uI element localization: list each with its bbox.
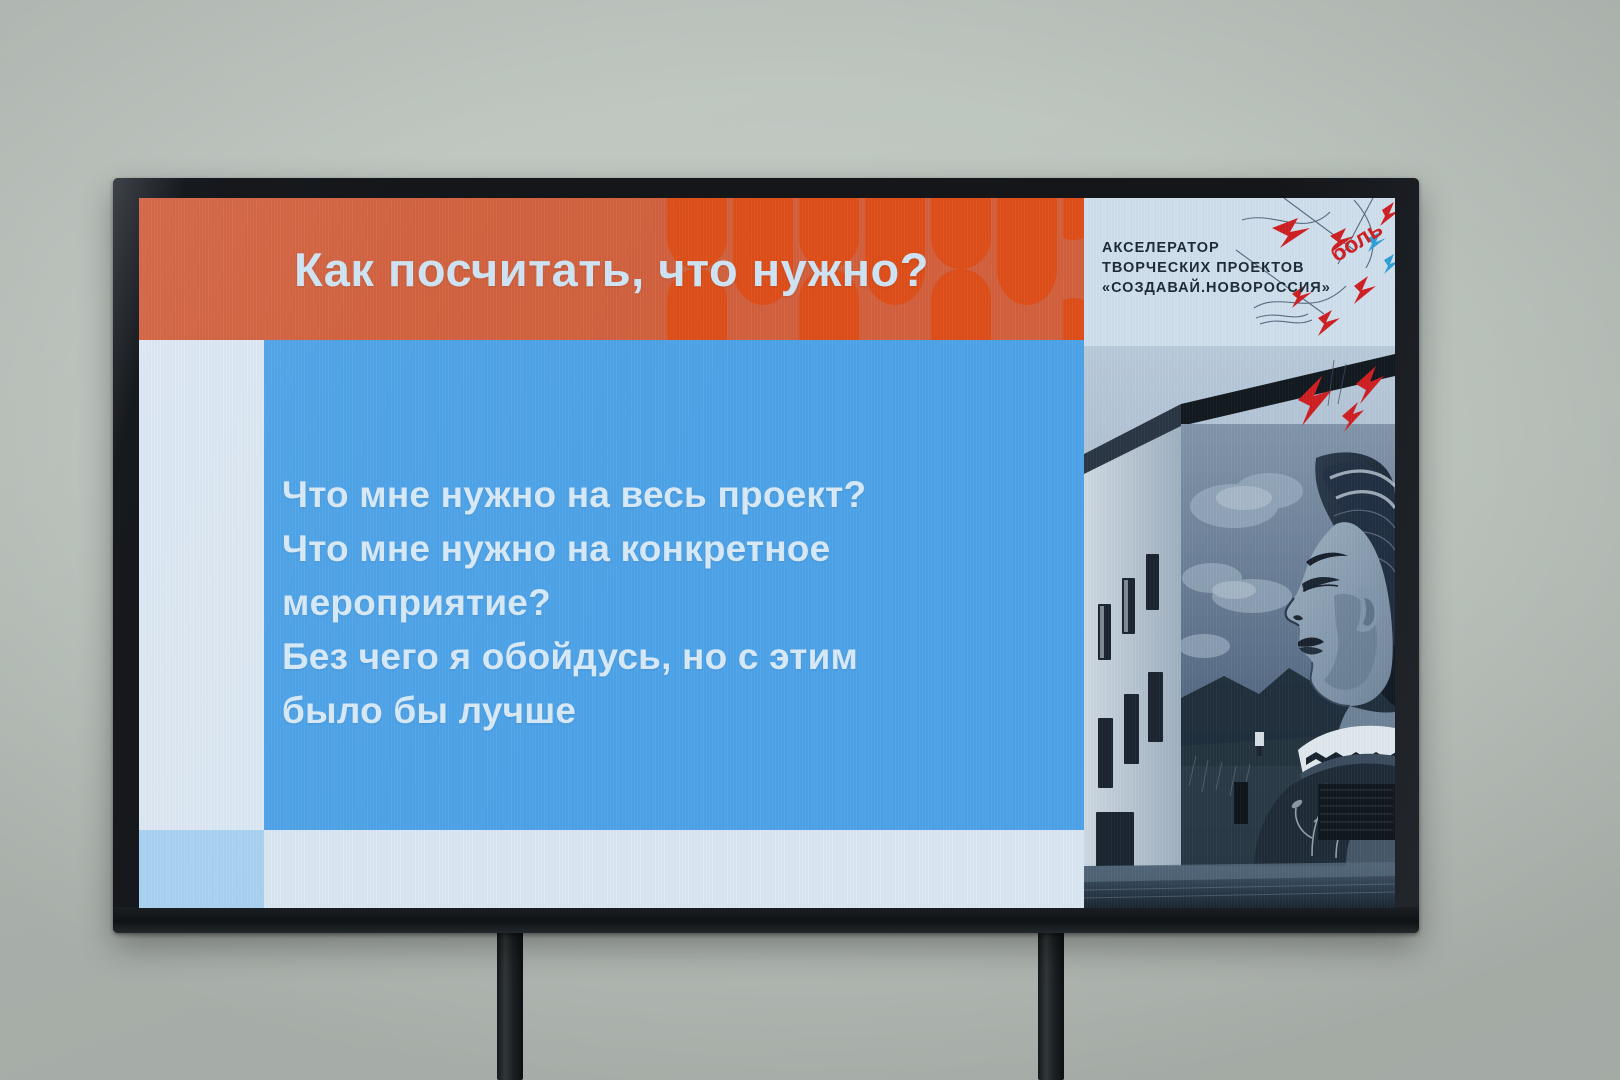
body-line: Без чего я обойдусь, но с этим [282, 630, 1074, 684]
tv-stand-leg-right [1038, 930, 1064, 1080]
body-line: Что мне нужно на конкретное [282, 522, 1074, 576]
logo-line: АКСЕЛЕРАТОР [1102, 238, 1331, 258]
slide-body-text: Что мне нужно на весь проект? Что мне ну… [282, 468, 1074, 738]
presentation-slide: Как посчитать, что нужно? Что мне нужно … [139, 198, 1395, 908]
mural-building-photo [1084, 346, 1395, 908]
slide-left-margin [139, 340, 264, 830]
logo-zone: боль АКСЕЛЕРАТОР ТВОРЧЕСКИХ ПРОЕКТОВ «СО… [1084, 198, 1395, 346]
room-scene: Как посчитать, что нужно? Что мне нужно … [0, 0, 1620, 1080]
body-line: Что мне нужно на весь проект? [282, 468, 1074, 522]
slide-content-panel: Что мне нужно на весь проект? Что мне ну… [264, 340, 1084, 830]
tv-stand-leg-left [497, 930, 523, 1080]
logo-line: ТВОРЧЕСКИХ ПРОЕКТОВ [1102, 258, 1331, 278]
slide-bottom-left-block [139, 830, 264, 908]
svg-text:боль: боль [1325, 215, 1387, 267]
body-line: мероприятие? [282, 576, 1074, 630]
logo-text: АКСЕЛЕРАТОР ТВОРЧЕСКИХ ПРОЕКТОВ «СОЗДАВА… [1102, 238, 1331, 298]
tv-bottom-bezel [113, 907, 1419, 933]
logo-line: «СОЗДАВАЙ.НОВОРОССИЯ» [1102, 278, 1331, 298]
slide-header: Как посчитать, что нужно? [139, 198, 1084, 340]
screen[interactable]: Как посчитать, что нужно? Что мне нужно … [139, 198, 1395, 908]
body-line: было бы лучше [282, 684, 1074, 738]
television-display[interactable]: Как посчитать, что нужно? Что мне нужно … [113, 178, 1419, 933]
page-title: Как посчитать, что нужно? [139, 198, 1084, 340]
slide-right-panel: боль АКСЕЛЕРАТОР ТВОРЧЕСКИХ ПРОЕКТОВ «СО… [1084, 198, 1395, 908]
